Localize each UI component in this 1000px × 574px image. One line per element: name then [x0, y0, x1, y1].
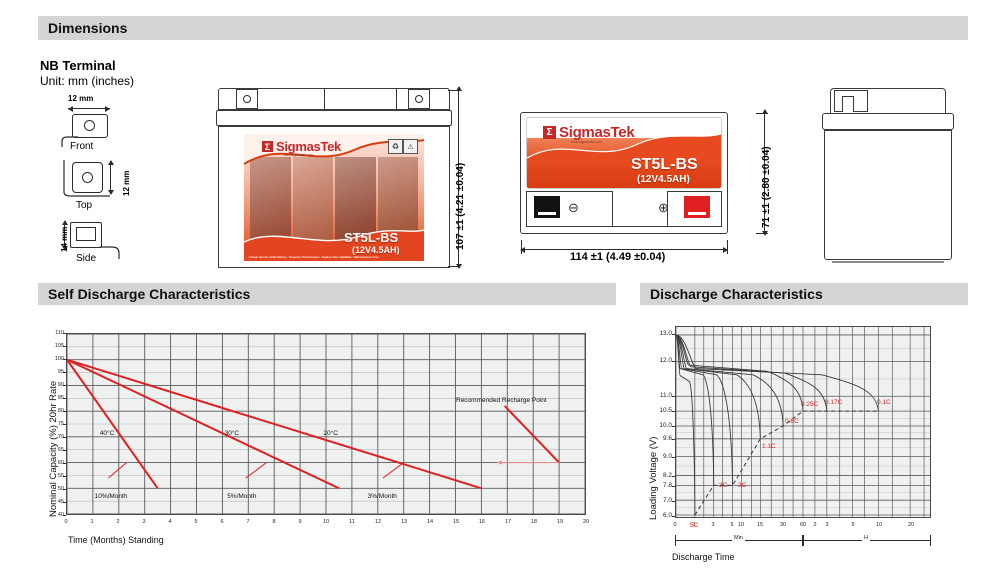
hour-bracket-label: H: [862, 535, 870, 541]
discharge-y-tick: 11.0: [651, 392, 672, 399]
brand-url-top: www.sigmastek.com: [571, 140, 602, 144]
discharge-x-tick-min: 10: [735, 522, 747, 528]
self-discharge-x-tick: 0: [61, 519, 71, 525]
discharge-x-tick-hour: 3: [821, 522, 833, 528]
discharge-y-tick: 13.0: [651, 330, 672, 337]
discharge-y-tick: 8.2: [651, 472, 672, 479]
self-discharge-y-tick: 100: [50, 356, 64, 362]
front-terminal-left-hole: [243, 95, 251, 103]
terminal-front-hole: [84, 120, 95, 131]
self-discharge-x-tick: 8: [269, 519, 279, 525]
discharge-x-tick-hour: 10: [873, 522, 885, 528]
self-discharge-y-tickmark: [63, 398, 66, 399]
terminal-top-leader: [62, 160, 112, 198]
discharge-y-tick: 12.0: [651, 357, 672, 364]
brand-name-front: SigmasTek: [276, 139, 341, 154]
self-discharge-x-tick: 10: [321, 519, 331, 525]
discharge-chart: Loading Voltage (V) 6.07.07.88.29.09.610…: [640, 320, 970, 570]
self-discharge-y-tick: 65: [50, 447, 64, 453]
min-bracket-label: Min: [732, 535, 745, 541]
label-model-front: ST5L-BS: [344, 230, 398, 245]
section-header-self-discharge: Self Discharge Characteristics: [38, 283, 616, 305]
self-discharge-y-tick: 85: [50, 395, 64, 401]
discharge-y-tickmark: [672, 396, 675, 397]
front-height-label: 107 ±1 (4.21 ±0.04): [455, 163, 466, 250]
positive-terminal-slot: [688, 212, 706, 215]
front-terminal-right-hole: [415, 95, 423, 103]
battery-label-front: Σ SigmasTek www.sigmastek.com ♻ ⚠ ST5L-B…: [244, 134, 424, 261]
terminal-side-inner: [76, 227, 96, 241]
terminal-front-width-label: 12 mm: [68, 94, 93, 103]
hour-bracket-right-cap: [930, 535, 931, 546]
self-discharge-chart: Nominal Capacity (%) 20hr Rate 404550556…: [38, 325, 598, 555]
discharge-x-tick-hour: 20: [905, 522, 917, 528]
self-discharge-x-tick: 18: [529, 519, 539, 525]
self-discharge-x-tick: 5: [191, 519, 201, 525]
terminal-front-dim-arrow-right: [105, 106, 110, 112]
self-discharge-svg: [67, 334, 585, 514]
discharge-curve-label: 0.25C: [801, 401, 818, 408]
discharge-y-tick: 9.0: [651, 453, 672, 460]
sigma-logo-icon-top: Σ: [543, 126, 556, 139]
self-discharge-annotation: 10%/Month: [95, 493, 128, 500]
battery-label-top: Σ SigmasTek www.sigmastek.com ST5L-BS (1…: [526, 117, 722, 189]
positive-terminal-pad: [684, 196, 710, 218]
discharge-curve-label: 0.17C: [825, 399, 842, 406]
discharge-curve-label: 2C: [738, 482, 746, 489]
top-depth-label: 71 ±1 (2.80 ±0.04): [761, 146, 772, 228]
label-brand-top: Σ SigmasTek: [543, 124, 634, 141]
self-discharge-x-tick: 19: [555, 519, 565, 525]
top-depth-ext-top: [756, 113, 768, 114]
section-title-self-discharge: Self Discharge Characteristics: [48, 286, 250, 302]
self-discharge-plot-area: [66, 333, 586, 515]
front-cap-divider-a: [324, 89, 325, 109]
self-discharge-x-tick: 11: [347, 519, 357, 525]
discharge-y-tickmark: [672, 516, 675, 517]
discharge-y-tickmark: [672, 439, 675, 440]
self-discharge-annotation: 20°C: [323, 430, 338, 437]
self-discharge-y-tick: 70: [50, 434, 64, 440]
label-brand-front: Σ SigmasTek: [262, 139, 341, 154]
self-discharge-annotation: 30°C: [225, 430, 240, 437]
self-discharge-y-tickmark: [63, 385, 66, 386]
discharge-x-tick-min: 60: [797, 522, 809, 528]
negative-terminal-slot: [538, 212, 556, 215]
self-discharge-y-tickmark: [63, 515, 66, 516]
self-discharge-y-tick: 90: [50, 382, 64, 388]
discharge-curve-label: 1.1C: [762, 443, 776, 450]
discharge-y-tick: 10.5: [651, 407, 672, 414]
self-discharge-x-tick: 14: [425, 519, 435, 525]
self-discharge-y-tickmark: [63, 346, 66, 347]
self-discharge-x-tick: 15: [451, 519, 461, 525]
self-discharge-y-tick: 40: [50, 512, 64, 518]
self-discharge-annotation: 40°C: [100, 430, 115, 437]
section-header-dimensions: Dimensions: [38, 16, 968, 40]
discharge-x-axis-title: Discharge Time: [672, 552, 735, 562]
terminal-side-dim-arrow-up: [62, 220, 68, 225]
self-discharge-y-tick: 75: [50, 421, 64, 427]
sigma-logo-icon: Σ: [262, 141, 273, 152]
discharge-x-tick-hour: 2: [809, 522, 821, 528]
discharge-y-tickmark: [672, 486, 675, 487]
discharge-x-tick-min: 3: [707, 522, 719, 528]
label-model-top: ST5L-BS: [631, 156, 698, 174]
section-header-discharge: Discharge Characteristics: [640, 283, 968, 305]
front-collar: [216, 110, 452, 126]
discharge-curve-label: 0.1C: [877, 399, 891, 406]
warning-icon: ⚠: [403, 139, 418, 154]
side-vent-hole: [842, 96, 854, 112]
discharge-y-tickmark: [672, 457, 675, 458]
discharge-x-tick-min: 0: [669, 522, 681, 528]
min-bracket-left-cap: [675, 535, 676, 546]
front-height-ext-top: [448, 90, 460, 91]
side-collar: [822, 113, 954, 130]
discharge-curve-label: 0.6C: [785, 418, 799, 425]
self-discharge-y-tickmark: [63, 437, 66, 438]
top-width-ext-left: [521, 240, 522, 254]
hour-bracket-left-cap: [803, 535, 804, 546]
discharge-curve-label: 3C: [719, 482, 727, 489]
discharge-y-tick: 7.8: [651, 482, 672, 489]
label-capacity-top: (12V4.5AH): [637, 174, 690, 185]
discharge-y-tickmark: [672, 334, 675, 335]
self-discharge-x-tick: 6: [217, 519, 227, 525]
top-width-dimline: [522, 249, 728, 250]
self-discharge-y-tick: 55: [50, 473, 64, 479]
terminal-side-label: Side: [76, 253, 96, 264]
discharge-y-tickmark: [672, 501, 675, 502]
self-discharge-annotation: Recommended Recharge Point: [456, 397, 547, 404]
terminal-top-height-label: 12 mm: [122, 171, 131, 196]
terminal-front-width-dimline: [68, 108, 110, 109]
terminal-side-height-label: 14 mm: [60, 227, 69, 252]
section-title-dimensions: Dimensions: [48, 20, 127, 36]
discharge-y-tickmark: [672, 411, 675, 412]
discharge-y-tick: 7.0: [651, 497, 672, 504]
discharge-y-tick: 9.6: [651, 435, 672, 442]
discharge-x-tick-min: 30: [777, 522, 789, 528]
label-capacity-front: (12V4.5AH): [352, 245, 400, 255]
battery-side-view: [822, 88, 954, 268]
discharge-x-tick-min: 15: [754, 522, 766, 528]
terminal-title: NB Terminal: [40, 58, 116, 73]
side-body: [824, 130, 952, 260]
discharge-y-tick: 10.0: [651, 422, 672, 429]
discharge-curve-label: 5C: [690, 522, 698, 529]
front-height-ext-bottom: [448, 266, 460, 267]
top-width-label: 114 ±1 (4.49 ±0.04): [570, 251, 665, 263]
self-discharge-y-tickmark: [63, 450, 66, 451]
recycle-icon: ♻: [388, 139, 403, 154]
self-discharge-y-tickmark: [63, 411, 66, 412]
self-discharge-y-tickmark: [63, 463, 66, 464]
self-discharge-x-axis-title: Time (Months) Standing: [68, 535, 164, 545]
self-discharge-y-tick: 50: [50, 486, 64, 492]
self-discharge-y-tick: 60: [50, 460, 64, 466]
self-discharge-y-tickmark: [63, 372, 66, 373]
self-discharge-y-tickmark: [63, 502, 66, 503]
discharge-y-tickmark: [672, 426, 675, 427]
terminal-side-leader: [100, 246, 122, 260]
self-discharge-y-tick: 105: [50, 343, 64, 349]
self-discharge-x-tick: 7: [243, 519, 253, 525]
terminal-top-label: Top: [76, 200, 92, 211]
section-title-discharge: Discharge Characteristics: [650, 286, 823, 302]
self-discharge-x-tick: 13: [399, 519, 409, 525]
self-discharge-x-tick: 2: [113, 519, 123, 525]
self-discharge-y-tick: 45: [50, 499, 64, 505]
negative-terminal-pad: [534, 196, 560, 218]
self-discharge-x-tick: 3: [139, 519, 149, 525]
self-discharge-x-tick: 9: [295, 519, 305, 525]
positive-polarity-icon: ⊕: [658, 200, 669, 216]
self-discharge-annotation: 3%/Month: [368, 493, 397, 500]
discharge-plot-area: [675, 326, 931, 518]
top-width-ext-right: [727, 240, 728, 254]
self-discharge-x-tick: 12: [373, 519, 383, 525]
brand-url-front: www.sigmastek.com: [284, 153, 313, 157]
self-discharge-x-tick: 1: [87, 519, 97, 525]
battery-top-view: Σ SigmasTek www.sigmastek.com ST5L-BS (1…: [520, 112, 750, 234]
self-discharge-y-tickmark: [63, 333, 66, 334]
self-discharge-y-tick: 95: [50, 369, 64, 375]
brand-name-top: SigmasTek: [559, 124, 634, 141]
terminal-front-dim-arrow-left: [68, 106, 73, 112]
discharge-x-tick-hour: 5: [847, 522, 859, 528]
self-discharge-annotation: 5%/Month: [227, 493, 256, 500]
side-base-line: [832, 261, 944, 263]
discharge-svg: [676, 327, 930, 517]
self-discharge-x-tick: 4: [165, 519, 175, 525]
label-tagline-front: ▪ Power Sports AGM Battery ▪ Superior Pe…: [248, 255, 422, 259]
self-discharge-y-tickmark: [63, 359, 66, 360]
self-discharge-y-tick: 110: [50, 330, 64, 336]
battery-front-view: Σ SigmasTek www.sigmastek.com ♻ ⚠ ST5L-B…: [218, 88, 450, 268]
discharge-y-tickmark: [672, 476, 675, 477]
front-cap-divider-b: [396, 89, 397, 109]
discharge-y-tickmark: [672, 361, 675, 362]
terminal-unit-note: Unit: mm (inches): [40, 74, 134, 88]
terminal-front-label: Front: [70, 141, 93, 152]
self-discharge-x-tick: 17: [503, 519, 513, 525]
self-discharge-y-tickmark: [63, 424, 66, 425]
top-depth-ext-bottom: [756, 233, 768, 234]
self-discharge-y-tick: 80: [50, 408, 64, 414]
discharge-y-tick: 6.0: [651, 512, 672, 519]
self-discharge-y-tickmark: [63, 489, 66, 490]
self-discharge-y-tickmark: [63, 476, 66, 477]
self-discharge-x-tick: 20: [581, 519, 591, 525]
negative-polarity-icon: ⊖: [568, 200, 579, 216]
self-discharge-x-tick: 16: [477, 519, 487, 525]
